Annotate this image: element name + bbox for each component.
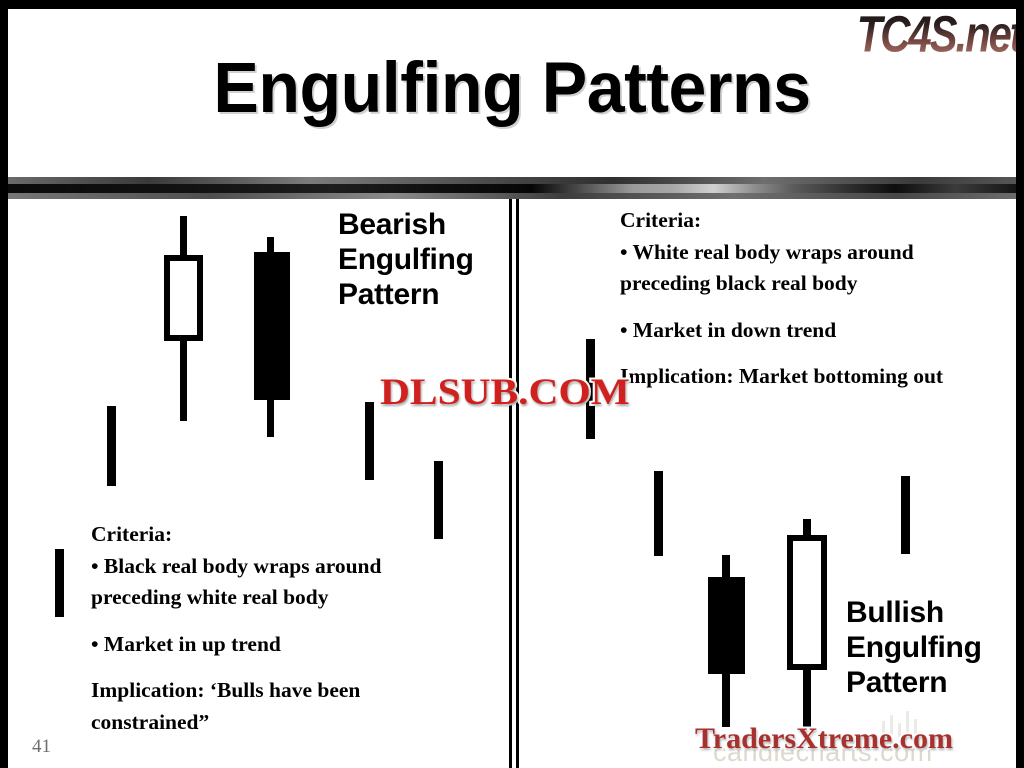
watermark-dlsub: DLSUB.COM [380, 371, 630, 414]
trend-bar-3 [365, 402, 374, 480]
bullish-criteria-spacer-2 [620, 346, 1016, 361]
divider-band-middle [8, 184, 1016, 193]
bullish-criteria-spacer-1 [620, 300, 1016, 315]
bearish-implication-line-2: constrained” [91, 707, 491, 739]
bearish-criteria-spacer-2 [91, 660, 491, 675]
bullish-label-line-2: Engulfing [846, 631, 982, 664]
bullish-criteria-bullet-1a: • White real body wraps around [620, 237, 1016, 269]
bullish-pattern-label: Bullish Engulfing Pattern [846, 595, 982, 700]
bullish-label-line-3: Pattern [846, 666, 947, 699]
bearish-pattern-label: Bearish Engulfing Pattern [338, 207, 474, 312]
bullish-criteria-heading: Criteria: [620, 205, 1016, 237]
black-candle-body [254, 252, 290, 400]
bullish-criteria-bullet-1b: preceding black real body [620, 268, 1016, 300]
divider-band-top [8, 177, 1016, 184]
white-candle-body [164, 255, 203, 341]
watermark-tc4s: TC4S.net [857, 9, 1016, 60]
page-title: Engulfing Patterns [28, 53, 996, 124]
bearish-criteria-block: Criteria: • Black real body wraps around… [91, 519, 491, 739]
bearish-criteria-bullet-1a: • Black real body wraps around [91, 551, 491, 583]
bearish-label-line-3: Pattern [338, 278, 439, 311]
down-trend-bar-3 [901, 476, 910, 554]
slide-canvas: Engulfing Patterns TC4S.net [0, 0, 1024, 768]
bearish-criteria-heading: Criteria: [91, 519, 491, 551]
bullish-black-candle-body [708, 577, 745, 674]
bearish-label-line-2: Engulfing [338, 243, 474, 276]
bearish-implication-line-1: Implication: ‘Bulls have been [91, 675, 491, 707]
trend-bar-1 [55, 549, 64, 617]
trend-bar-2 [107, 406, 116, 486]
bearish-criteria-bullet-2: • Market in up trend [91, 629, 491, 661]
bullish-implication-line-1: Implication: Market bottoming out [620, 361, 1016, 393]
bullish-white-candle-body [787, 535, 827, 670]
slide-header: Engulfing Patterns TC4S.net [8, 9, 1016, 169]
bullish-label-line-1: Bullish [846, 596, 944, 629]
header-divider-bar [8, 177, 1016, 199]
bearish-criteria-spacer-1 [91, 614, 491, 629]
bearish-criteria-bullet-1b: preceding white real body [91, 582, 491, 614]
bearish-label-line-1: Bearish [338, 208, 446, 241]
center-divider-line-left [509, 199, 512, 768]
bullish-criteria-block: Criteria: • White real body wraps around… [620, 205, 1016, 393]
center-divider-line-right [516, 199, 519, 768]
bullish-criteria-bullet-2: • Market in down trend [620, 315, 1016, 347]
page-number: 41 [32, 736, 51, 758]
watermark-tradersxtreme: TradersXtreme.com [695, 722, 953, 756]
slide-body: Bearish Engulfing Pattern Criteria: • Bl… [8, 199, 1016, 768]
down-trend-bar-2 [654, 471, 663, 556]
